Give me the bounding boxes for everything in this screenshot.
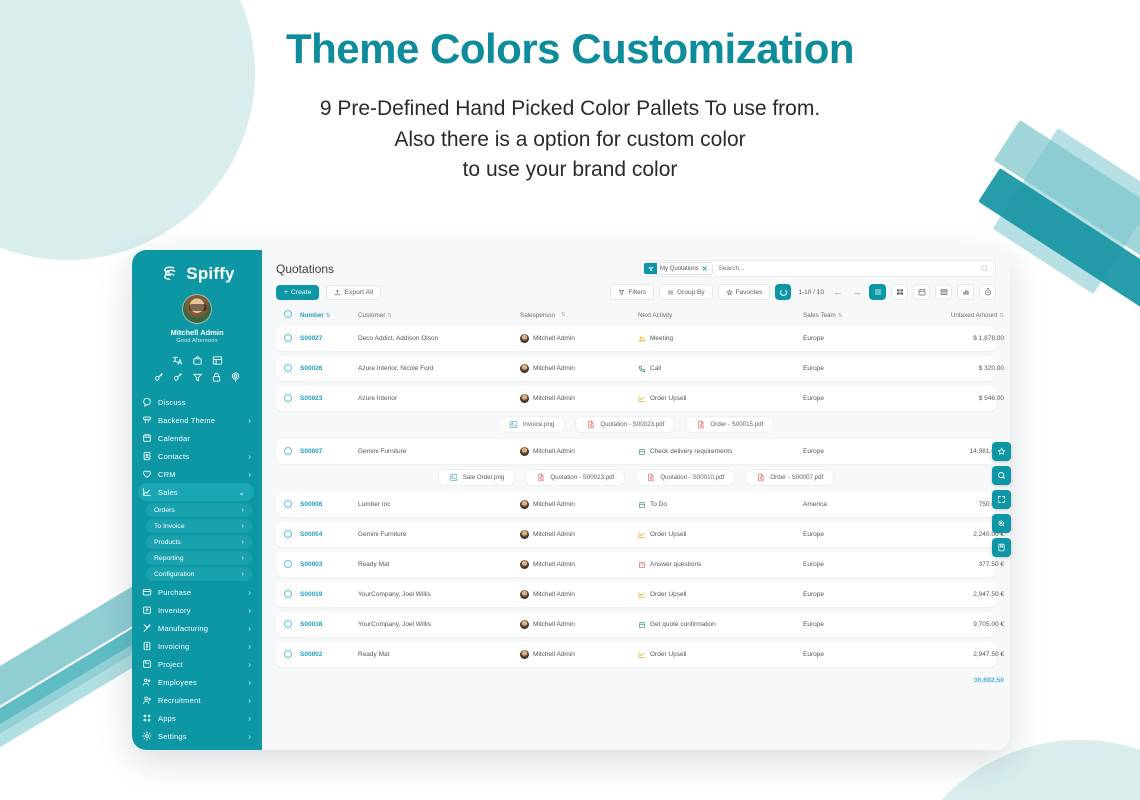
create-label: Create	[291, 289, 311, 296]
hero-subtitle: 9 Pre-Defined Hand Picked Color Pallets …	[0, 94, 1140, 185]
invoicing-icon	[142, 641, 152, 651]
cell-customer: Azure Interior, Nicole Ford	[358, 365, 520, 372]
cell-untaxed-amount: $ 546.00	[908, 395, 1010, 402]
avatar	[182, 294, 212, 324]
brand[interactable]: Spiffy	[132, 250, 262, 294]
table-body: S00027Deco Addict, Addison OlsonMitchell…	[276, 326, 996, 667]
star-icon	[997, 447, 1006, 456]
chevron-right-icon: ›	[248, 624, 251, 633]
cell-next-activity: Order Upsell	[638, 591, 803, 599]
facet-filter-icon	[644, 262, 657, 275]
avatar	[520, 650, 529, 659]
briefcase-icon[interactable]	[192, 355, 203, 366]
column-header-customer[interactable]: Customer⇅	[358, 312, 520, 319]
sidebar-subitem-label: Products	[154, 539, 242, 546]
cell-customer: Ready Mat	[358, 651, 520, 658]
cell-salesperson: Mitchell Admin	[520, 620, 638, 629]
cell-number[interactable]: S00002	[300, 651, 358, 658]
attachment-name: Order - S00007.pdf	[770, 474, 823, 481]
sidebar-item-invoicing[interactable]: Invoicing›	[132, 637, 260, 655]
cell-salesperson: Mitchell Admin	[520, 650, 638, 659]
cell-next-activity: To Do	[638, 501, 803, 509]
column-label: Sales Team	[803, 312, 836, 319]
theme-icon	[142, 415, 152, 425]
cell-number[interactable]: S00026	[300, 365, 358, 372]
column-header-untaxed-amount[interactable]: Untaxed Amount⇅	[908, 312, 1010, 319]
favorites-label: Favorites	[736, 289, 763, 296]
sidebar-item-label: Settings	[158, 732, 242, 741]
user-profile[interactable]: Mitchell Admin Good Afternoon	[132, 294, 262, 348]
cell-next-activity: Check delivery requirements	[638, 448, 803, 456]
fullscreen-icon	[997, 495, 1006, 504]
sidebar-subitem-orders[interactable]: Orders›	[146, 503, 252, 517]
attachment-chip[interactable]: Quotation - S00023.pdf	[575, 416, 675, 433]
contacts-icon	[142, 451, 152, 461]
row-checkbox[interactable]	[284, 530, 300, 540]
cell-next-activity: Call	[638, 365, 803, 373]
cell-customer: YourCompany, Joel Willis	[358, 591, 520, 598]
chevron-right-icon: ›	[248, 416, 251, 425]
row-checkbox[interactable]	[284, 590, 300, 600]
cell-customer: Azure Interior	[358, 395, 520, 402]
sidebar-item-label: Calendar	[158, 434, 251, 443]
avatar	[520, 334, 529, 343]
cell-sales-team: Europe	[803, 448, 908, 455]
sort-icon: ⇅	[838, 313, 843, 319]
cell-customer: Ready Mat	[358, 561, 520, 568]
create-button[interactable]: + Create	[276, 285, 319, 300]
pivot-view-button[interactable]	[935, 284, 952, 300]
upload-icon	[334, 289, 341, 296]
sidebar-subitem-to-invoice[interactable]: To Invoice›	[146, 519, 252, 533]
calendar-view-icon	[918, 288, 926, 296]
avatar	[520, 590, 529, 599]
search-icon	[997, 471, 1006, 480]
sidebar-item-calendar[interactable]: Calendar	[132, 429, 260, 447]
next-page-button[interactable]: →	[850, 284, 864, 300]
sidebar-item-discuss[interactable]: Discuss	[132, 393, 260, 411]
sidebar-item-label: CRM	[158, 470, 242, 479]
cell-untaxed-amount: 2,947.50 €	[908, 651, 1010, 658]
attachment-name: Sale Order.png	[463, 474, 505, 481]
app-window: Spiffy Mitchell Admin Good Afternoon Dis…	[132, 250, 1010, 750]
column-label: Next Activity	[638, 312, 672, 319]
attachment-chip[interactable]: Sale Order.png	[438, 469, 516, 486]
cell-salesperson: Mitchell Admin	[520, 364, 638, 373]
column-header-next-activity[interactable]: Next Activity	[638, 312, 803, 319]
loading-spinner	[775, 284, 791, 300]
sidebar-item-label: Inventory	[158, 606, 242, 615]
tools-icon	[142, 623, 152, 633]
row-checkbox[interactable]	[284, 394, 300, 404]
star-icon-button[interactable]	[992, 442, 1011, 461]
lock-icon[interactable]	[211, 372, 222, 383]
avatar	[520, 364, 529, 373]
avatar	[520, 500, 529, 509]
attachment-name: Order - S00015.pdf	[710, 421, 763, 428]
grid-icon[interactable]	[212, 355, 223, 366]
search-icon-button[interactable]	[992, 466, 1011, 485]
column-header-number[interactable]: Number⇅	[300, 312, 358, 319]
cell-customer: Lumber Inc	[358, 501, 520, 508]
chevron-right-icon: ›	[248, 696, 251, 705]
filter-icon	[618, 289, 625, 296]
graph-view-button[interactable]	[957, 284, 974, 300]
sidebar-subitem-reporting[interactable]: Reporting›	[146, 551, 252, 565]
column-header-salesperson[interactable]: Salesperson⇅	[520, 312, 638, 319]
table-row[interactable]: S00004Gemini FurnitureMitchell AdminOrde…	[276, 522, 996, 547]
sidebar-item-label: Purchase	[158, 588, 242, 597]
sidebar-menu: DiscussBackend Theme›CalendarContacts›CR…	[132, 393, 262, 750]
sidebar-item-label: Contacts	[158, 452, 242, 461]
chevron-right-icon: ›	[248, 678, 251, 687]
filters-button[interactable]: Filters	[610, 284, 654, 300]
cell-sales-team: Europe	[803, 651, 908, 658]
select-all-checkbox[interactable]	[284, 310, 300, 320]
sort-icon: ⇅	[326, 313, 331, 319]
totals-untaxed: 36,692.50	[908, 677, 1010, 684]
sidebar-item-sales[interactable]: Sales⌄	[138, 483, 254, 501]
graph-view-icon	[962, 288, 970, 296]
sidebar-subitem-label: To Invoice	[154, 523, 242, 530]
favorites-button[interactable]: Favorites	[718, 284, 771, 300]
hero-subtitle-line-3: to use your brand color	[0, 155, 1140, 185]
cell-sales-team: Europe	[803, 395, 908, 402]
sidebar-item-label: Project	[158, 660, 242, 669]
fullscreen-icon-button[interactable]	[992, 490, 1011, 509]
filters-label: Filters	[628, 289, 646, 296]
sidebar-item-label: Invoicing	[158, 642, 242, 651]
sidebar-subitem-label: Reporting	[154, 555, 242, 562]
bookmark-icon	[997, 543, 1006, 552]
employees-icon	[142, 677, 152, 687]
bookmark-icon-button[interactable]	[992, 538, 1011, 557]
table-row[interactable]: S00023Azure InteriorMitchell AdminOrder …	[276, 386, 996, 411]
avatar	[520, 560, 529, 569]
attachment-chip[interactable]: Order - S00015.pdf	[685, 416, 774, 433]
cell-number[interactable]: S00003	[300, 561, 358, 568]
sidebar-item-label: Backend Theme	[158, 416, 242, 425]
chevron-right-icon: ›	[248, 452, 251, 461]
cell-next-activity: Order Upsell	[638, 395, 803, 403]
spiffy-logo-icon	[159, 263, 181, 285]
floating-dock	[992, 442, 1011, 557]
list-view-button[interactable]	[869, 284, 886, 300]
chevron-right-icon: ›	[248, 732, 251, 741]
chevron-right-icon: ›	[248, 660, 251, 669]
chevron-right-icon: ›	[242, 539, 244, 546]
attachment-name: Quotation - S00023.pdf	[600, 421, 664, 428]
chevron-right-icon: ›	[242, 507, 244, 514]
row-checkbox[interactable]	[284, 447, 300, 457]
poster-canvas: Theme Colors Customization 9 Pre-Defined…	[0, 0, 1140, 800]
cell-untaxed-amount: $ 320.00	[908, 365, 1010, 372]
cell-next-activity: Meeting	[638, 335, 803, 343]
cell-number[interactable]: S00027	[300, 335, 358, 342]
sidebar-item-label: Recruitment	[158, 696, 242, 705]
cell-untaxed-amount: 377.50 €	[908, 561, 1010, 568]
cell-customer: Deco Addict, Addison Olson	[358, 335, 520, 342]
pivot-view-icon	[940, 288, 948, 296]
quick-actions-row-1	[132, 355, 262, 366]
avatar	[520, 620, 529, 629]
column-header-sales-team[interactable]: Sales Team⇅	[803, 312, 908, 319]
view-title: Quotations	[276, 262, 334, 276]
star-icon	[726, 289, 733, 296]
cell-next-activity: Order Upsell	[638, 651, 803, 659]
zoom-icon-button[interactable]	[992, 514, 1011, 533]
translate-icon[interactable]	[172, 355, 183, 366]
quick-actions-row-2	[132, 372, 262, 383]
cell-customer: YourCompany, Joel Willis	[358, 621, 520, 628]
recruitment-icon	[142, 695, 152, 705]
sidebar-item-purchase[interactable]: Purchase›	[132, 583, 260, 601]
table-row[interactable]: S00003Ready MatMitchell AdminAnswer ques…	[276, 552, 996, 577]
list-lines-icon	[667, 289, 674, 296]
cell-sales-team: Europe	[803, 365, 908, 372]
cell-sales-team: Europe	[803, 591, 908, 598]
pin-icon[interactable]	[230, 372, 241, 383]
filter-icon[interactable]	[192, 372, 203, 383]
apps-icon	[142, 713, 152, 723]
column-label: Number	[300, 312, 324, 319]
table-row[interactable]: S00018YourCompany, Joel WillisMitchell A…	[276, 612, 996, 637]
cell-number[interactable]: S00018	[300, 621, 358, 628]
attachment-name: Invoice.png	[523, 421, 555, 428]
search-input[interactable]	[719, 265, 980, 272]
chevron-right-icon: ›	[248, 642, 251, 651]
sort-icon: ⇅	[999, 313, 1004, 319]
table-header: Number⇅Customer⇅Salesperson⇅Next Activit…	[276, 306, 996, 326]
chevron-right-icon: ›	[248, 714, 251, 723]
kanban-view-icon	[896, 288, 904, 296]
gear-icon	[142, 731, 152, 741]
column-label: Salesperson	[520, 312, 555, 319]
sidebar-item-project[interactable]: Project›	[132, 655, 260, 673]
cell-salesperson: Mitchell Admin	[520, 500, 638, 509]
sidebar-item-label: Sales	[158, 488, 232, 497]
key-alt-icon[interactable]	[173, 372, 184, 383]
cell-salesperson: Mitchell Admin	[520, 590, 638, 599]
key-icon[interactable]	[154, 372, 165, 383]
sidebar-subitem-configuration[interactable]: Configuration›	[146, 567, 252, 581]
cell-untaxed-amount: 2,947.50 €	[908, 591, 1010, 598]
sidebar-item-contacts[interactable]: Contacts›	[132, 447, 260, 465]
zoom-icon	[997, 519, 1006, 528]
search-bar[interactable]: My Quotations ✕	[640, 260, 996, 277]
cell-sales-team: Europe	[803, 531, 908, 538]
brand-name: Spiffy	[186, 264, 234, 284]
sidebar-item-recruitment[interactable]: Recruitment›	[132, 691, 260, 709]
cell-untaxed-amount: $ 1,878.00	[908, 335, 1010, 342]
cell-sales-team: America	[803, 501, 908, 508]
attachment-row: Invoice.pngQuotation - S00023.pdfOrder -…	[276, 416, 996, 433]
attachment-name: Quotation - S00010.pdf	[660, 474, 724, 481]
cell-number[interactable]: S00006	[300, 501, 358, 508]
avatar	[520, 394, 529, 403]
project-icon	[142, 659, 152, 669]
sidebar-item-settings[interactable]: Settings›	[132, 727, 260, 745]
cell-sales-team: Europe	[803, 561, 908, 568]
sidebar: Spiffy Mitchell Admin Good Afternoon Dis…	[132, 250, 262, 750]
list-view-icon	[874, 288, 882, 296]
search-icon[interactable]	[980, 264, 989, 273]
plus-icon: +	[284, 289, 288, 296]
sidebar-item-inventory[interactable]: Inventory›	[132, 601, 260, 619]
user-greeting: Good Afternoon	[132, 338, 262, 344]
attachment-chip[interactable]: Quotation - S00010.pdf	[635, 469, 735, 486]
chart-line-icon	[142, 487, 152, 497]
attachment-row: Sale Order.pngQuotation - S00023.pdfQuot…	[276, 469, 996, 486]
user-name: Mitchell Admin	[132, 328, 262, 337]
sidebar-item-employees[interactable]: Employees›	[132, 673, 260, 691]
cell-sales-team: Europe	[803, 621, 908, 628]
sidebar-subitem-products[interactable]: Products›	[146, 535, 252, 549]
group-by-button[interactable]: Group By	[659, 284, 712, 300]
hero-subtitle-line-1: 9 Pre-Defined Hand Picked Color Pallets …	[0, 94, 1140, 124]
cell-customer: Gemini Furniture	[358, 531, 520, 538]
sidebar-item-apps[interactable]: Apps›	[132, 709, 260, 727]
column-label: Untaxed Amount	[951, 312, 998, 319]
facet-label: My Quotations	[660, 266, 699, 272]
search-facet-my-quotations[interactable]: My Quotations ✕	[643, 262, 713, 275]
attachment-chip[interactable]: Quotation - S00023.pdf	[525, 469, 625, 486]
row-checkbox[interactable]	[284, 364, 300, 374]
attachment-chip[interactable]: Invoice.png	[498, 416, 566, 433]
table-row[interactable]: S00006Lumber IncMitchell AdminTo DoAmeri…	[276, 492, 996, 517]
kanban-view-button[interactable]	[891, 284, 908, 300]
sort-icon: ⇅	[387, 313, 392, 319]
pager-text: 1-10 / 10	[796, 289, 826, 296]
table-row[interactable]: S00027Deco Addict, Addison OlsonMitchell…	[276, 326, 996, 351]
sidebar-item-crm[interactable]: CRM›	[132, 465, 260, 483]
cell-sales-team: Europe	[803, 335, 908, 342]
chevron-down-icon: ⌄	[238, 488, 245, 497]
sidebar-item-manufacturing[interactable]: Manufacturing›	[132, 619, 260, 637]
row-checkbox[interactable]	[284, 334, 300, 344]
chevron-right-icon: ›	[248, 588, 251, 597]
chevron-right-icon: ›	[248, 606, 251, 615]
sort-icon: ⇅	[561, 312, 566, 318]
chevron-right-icon: ›	[242, 571, 244, 578]
chevron-right-icon: ›	[242, 523, 244, 530]
table-row[interactable]: S00002Ready MatMitchell AdminOrder Upsel…	[276, 642, 996, 667]
cell-number[interactable]: S00007	[300, 448, 358, 455]
cell-next-activity: Order Upsell	[638, 531, 803, 539]
table-row[interactable]: S00007Gemini FurnitureMitchell AdminChec…	[276, 439, 996, 464]
table-row[interactable]: S00026Azure Interior, Nicole FordMitchel…	[276, 356, 996, 381]
page-title: Theme Colors Customization	[0, 26, 1140, 72]
sidebar-item-label: Employees	[158, 678, 242, 687]
chat-icon	[142, 397, 152, 407]
calendar-view-button[interactable]	[913, 284, 930, 300]
sidebar-subitem-label: Orders	[154, 507, 242, 514]
attachment-chip[interactable]: Order - S00007.pdf	[745, 469, 834, 486]
cell-salesperson: Mitchell Admin	[520, 334, 638, 343]
cell-salesperson: Mitchell Admin	[520, 447, 638, 456]
export-all-button[interactable]: Export All	[326, 285, 381, 300]
row-checkbox[interactable]	[284, 560, 300, 570]
column-label: Customer	[358, 312, 385, 319]
cell-untaxed-amount: 9,705.00 €	[908, 621, 1010, 628]
previous-page-button[interactable]: ←	[831, 284, 845, 300]
attachment-name: Quotation - S00023.pdf	[550, 474, 614, 481]
table-totals: 36,692.50 0.00 36,692.50	[276, 672, 996, 684]
hero-section: Theme Colors Customization 9 Pre-Defined…	[0, 26, 1140, 186]
export-label: Export All	[344, 289, 373, 296]
cell-salesperson: Mitchell Admin	[520, 394, 638, 403]
clock-icon	[984, 288, 992, 296]
main-content: Quotations My Quotations ✕	[262, 250, 1010, 750]
activity-view-button[interactable]	[979, 284, 996, 300]
hero-subtitle-line-2: Also there is a option for custom color	[0, 125, 1140, 155]
avatar	[520, 447, 529, 456]
cell-salesperson: Mitchell Admin	[520, 560, 638, 569]
quotations-table: Number⇅Customer⇅Salesperson⇅Next Activit…	[262, 300, 1010, 750]
cell-number[interactable]: S00023	[300, 395, 358, 402]
cell-number[interactable]: S00004	[300, 531, 358, 538]
sidebar-subitem-label: Configuration	[154, 571, 242, 578]
view-controls: Filters Group By Favorites 1-10 / 10 ←	[610, 284, 996, 300]
toolbar: Quotations My Quotations ✕	[262, 250, 1010, 300]
sidebar-item-label: Discuss	[158, 398, 251, 407]
row-checkbox[interactable]	[284, 650, 300, 660]
chevron-right-icon: ›	[242, 555, 244, 562]
cell-customer: Gemini Furniture	[358, 448, 520, 455]
table-row[interactable]: S00019YourCompany, Joel WillisMitchell A…	[276, 582, 996, 607]
chevron-right-icon: ›	[248, 470, 251, 479]
avatar	[520, 530, 529, 539]
purchase-icon	[142, 587, 152, 597]
calendar-icon	[142, 433, 152, 443]
cell-salesperson: Mitchell Admin	[520, 530, 638, 539]
decor-bar-bottom-left-3	[0, 642, 147, 778]
cell-number[interactable]: S00019	[300, 591, 358, 598]
row-checkbox[interactable]	[284, 500, 300, 510]
row-checkbox[interactable]	[284, 620, 300, 630]
sidebar-item-label: Manufacturing	[158, 624, 242, 633]
cell-next-activity: Get quote confirmation	[638, 621, 803, 629]
crm-icon	[142, 469, 152, 479]
sidebar-item-backend-theme[interactable]: Backend Theme›	[132, 411, 260, 429]
group-by-label: Group By	[677, 289, 704, 296]
cell-next-activity: Answer questions	[638, 561, 803, 569]
facet-remove-icon[interactable]: ✕	[702, 265, 708, 273]
sidebar-item-label: Apps	[158, 714, 242, 723]
inventory-icon	[142, 605, 152, 615]
